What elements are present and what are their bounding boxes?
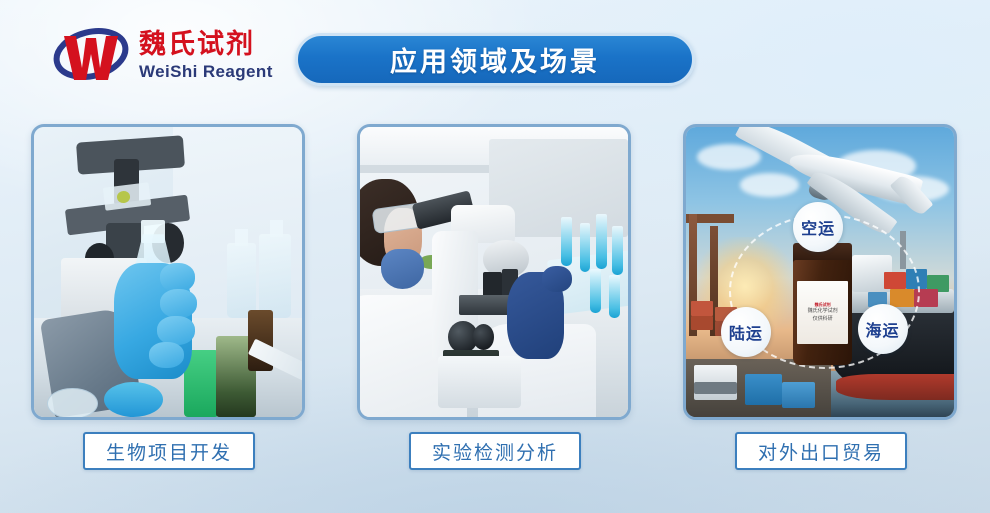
card-export[interactable]: 魏氏试剂 魏氏化学试剂 仅供科研 空运 陆运 海运 (683, 124, 957, 420)
weishi-w-logo-icon (52, 24, 130, 86)
card-label-testing[interactable]: 实验检测分析 (409, 432, 581, 470)
bottle-logo-text: 魏氏试剂 (815, 303, 831, 307)
card-label-biology-text: 生物项目开发 (106, 438, 232, 465)
card-label-biology[interactable]: 生物项目开发 (83, 432, 255, 470)
card-export-photo: 魏氏试剂 魏氏化学试剂 仅供科研 空运 陆运 海运 (686, 127, 954, 417)
card-label-export-text: 对外出口贸易 (758, 438, 884, 465)
page-header: 魏氏试剂 WeiShi Reagent 应用领域及场景 (0, 0, 990, 118)
brand-text: 魏氏试剂 WeiShi Reagent (139, 28, 273, 83)
badge-air-label: 空运 (801, 215, 835, 239)
brand-name-cn: 魏氏试剂 (139, 30, 273, 58)
badge-sea-freight: 海运 (858, 304, 908, 354)
brand-name-en: WeiShi Reagent (139, 61, 273, 82)
bottle-line-1: 魏氏化学试剂 (808, 308, 838, 314)
card-biology-photo (34, 127, 302, 417)
bottle-line-2: 仅供科研 (813, 316, 833, 322)
brand-logo[interactable]: 魏氏试剂 WeiShi Reagent (52, 24, 273, 86)
card-label-export[interactable]: 对外出口贸易 (735, 432, 907, 470)
badge-land-label: 陆运 (729, 320, 763, 344)
badge-land-freight: 陆运 (721, 307, 771, 357)
card-biology[interactable] (31, 124, 305, 420)
page-title-banner: 应用领域及场景 (295, 33, 695, 86)
card-testing[interactable] (357, 124, 631, 420)
card-label-testing-text: 实验检测分析 (432, 438, 558, 465)
badge-sea-label: 海运 (866, 317, 900, 341)
card-testing-photo (360, 127, 628, 417)
application-cards: 魏氏试剂 魏氏化学试剂 仅供科研 空运 陆运 海运 (0, 124, 990, 484)
page-title: 应用领域及场景 (390, 40, 600, 79)
reagent-bottle-label: 魏氏试剂 魏氏化学试剂 仅供科研 (797, 281, 848, 345)
